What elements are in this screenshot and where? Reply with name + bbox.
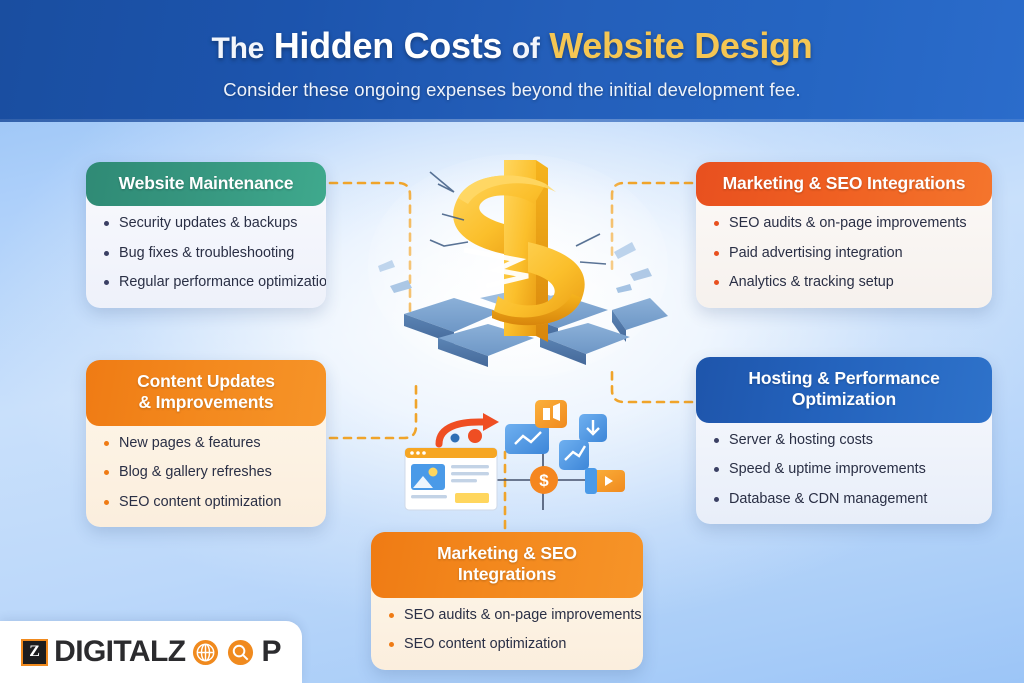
- list-item: Bug fixes & troubleshooting: [103, 244, 310, 262]
- marketing-network-illustration: $: [383, 392, 643, 522]
- title-word-hidden-costs: Hidden Costs: [274, 25, 502, 66]
- bullet-list-marketing-seo-bottom: SEO audits & on-page improvements SEO co…: [388, 606, 627, 654]
- globe-icon: [192, 639, 219, 666]
- card-body-content-updates: New pages & features Blog & gallery refr…: [86, 414, 326, 527]
- bullet-list-website-maintenance: Security updates & backups Bug fixes & t…: [103, 214, 310, 291]
- title-word-website-design: Website Design: [549, 25, 812, 66]
- list-item: Server & hosting costs: [713, 431, 976, 449]
- list-item: Blog & gallery refreshes: [103, 463, 310, 481]
- card-content-updates[interactable]: Content Updates & Improvements New pages…: [86, 360, 326, 527]
- list-item: SEO content optimization: [388, 635, 627, 653]
- card-body-website-maintenance: Security updates & backups Bug fixes & t…: [86, 194, 326, 307]
- card-title-line-2: Optimization: [710, 389, 978, 410]
- magnifier-icon: [227, 639, 254, 666]
- list-item: Security updates & backups: [103, 214, 310, 232]
- svg-text:$: $: [539, 471, 549, 490]
- card-title-line-1: Hosting & Performance: [710, 368, 978, 389]
- page-title: The Hidden Costs of Website Design: [0, 28, 1024, 64]
- card-title-line-1: Content Updates: [100, 371, 312, 392]
- brand-logo[interactable]: Z DIGITALZ P: [0, 621, 302, 683]
- card-marketing-seo-integrations[interactable]: Marketing & SEO Integrations SEO audits …: [696, 162, 992, 308]
- logo-lockup: Z DIGITALZ P: [21, 637, 281, 667]
- list-item: Database & CDN management: [713, 490, 976, 508]
- bullet-list-content-updates: New pages & features Blog & gallery refr…: [103, 434, 310, 511]
- card-title-line-1: Marketing & SEO: [385, 543, 629, 564]
- list-item: SEO audits & on-page improvements: [388, 606, 627, 624]
- card-title-marketing-seo-integrations: Marketing & SEO Integrations: [696, 162, 992, 206]
- card-title-line-2: & Improvements: [100, 392, 312, 413]
- list-item: Paid advertising integration: [713, 244, 976, 262]
- list-item: Speed & uptime improvements: [713, 460, 976, 478]
- page-subtitle: Consider these ongoing expenses beyond t…: [0, 79, 1024, 101]
- logo-text-before: DIGITALZ: [54, 637, 185, 667]
- card-title-hosting-performance: Hosting & Performance Optimization: [696, 357, 992, 423]
- card-website-maintenance[interactable]: Website Maintenance Security updates & b…: [86, 162, 326, 308]
- title-word-the: The: [212, 32, 264, 65]
- title-word-of: of: [512, 32, 540, 65]
- card-hosting-performance[interactable]: Hosting & Performance Optimization Serve…: [696, 357, 992, 524]
- cracked-dollar-illustration: [368, 146, 668, 376]
- list-item: Regular performance optimization: [103, 273, 310, 291]
- logo-text-after: P: [261, 637, 280, 667]
- list-item: Analytics & tracking setup: [713, 273, 976, 291]
- card-body-marketing-seo-bottom: SEO audits & on-page improvements SEO co…: [371, 586, 643, 670]
- bullet-list-hosting-performance: Server & hosting costs Speed & uptime im…: [713, 431, 976, 508]
- card-marketing-seo-bottom[interactable]: Marketing & SEO Integrations SEO audits …: [371, 532, 643, 670]
- list-item: SEO content optimization: [103, 493, 310, 511]
- card-body-marketing-seo-integrations: SEO audits & on-page improvements Paid a…: [696, 194, 992, 307]
- card-title-line-2: Integrations: [385, 564, 629, 585]
- card-body-hosting-performance: Server & hosting costs Speed & uptime im…: [696, 411, 992, 524]
- bullet-list-marketing-seo-integrations: SEO audits & on-page improvements Paid a…: [713, 214, 976, 291]
- card-title-website-maintenance: Website Maintenance: [86, 162, 326, 206]
- header-banner: The Hidden Costs of Website Design Consi…: [0, 0, 1024, 122]
- card-title-content-updates: Content Updates & Improvements: [86, 360, 326, 426]
- infographic-canvas: The Hidden Costs of Website Design Consi…: [0, 0, 1024, 683]
- list-item: New pages & features: [103, 434, 310, 452]
- card-title-marketing-seo-bottom: Marketing & SEO Integrations: [371, 532, 643, 598]
- list-item: SEO audits & on-page improvements: [713, 214, 976, 232]
- logo-z-mark-icon: Z: [21, 639, 48, 666]
